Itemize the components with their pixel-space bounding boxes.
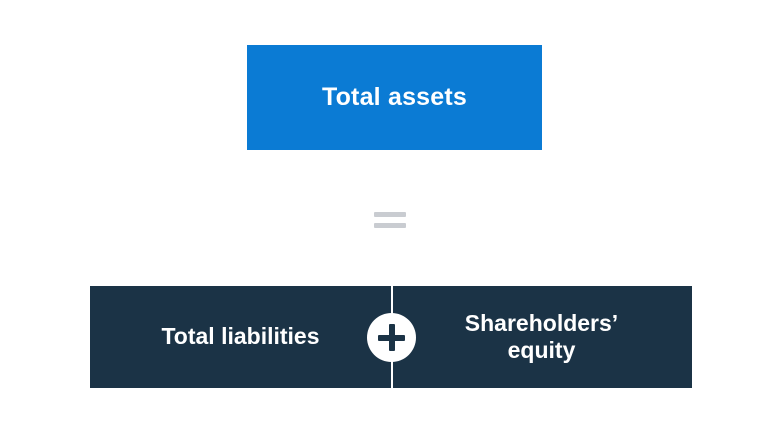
total-liabilities-label: Total liabilities xyxy=(161,323,319,350)
shareholders-equity-section: Shareholders’ equity xyxy=(391,286,692,388)
plus-icon xyxy=(367,313,416,362)
equals-bar-bottom xyxy=(374,223,406,228)
plus-bar-vertical xyxy=(389,324,395,351)
equals-icon xyxy=(374,210,406,232)
total-assets-box: Total assets xyxy=(247,45,542,150)
total-assets-label: Total assets xyxy=(322,83,467,112)
total-liabilities-section: Total liabilities xyxy=(90,286,391,388)
diagram-canvas: Total assets Total liabilities Sharehold… xyxy=(0,0,780,439)
shareholders-equity-label: Shareholders’ equity xyxy=(442,310,642,364)
equals-bar-top xyxy=(374,212,406,217)
